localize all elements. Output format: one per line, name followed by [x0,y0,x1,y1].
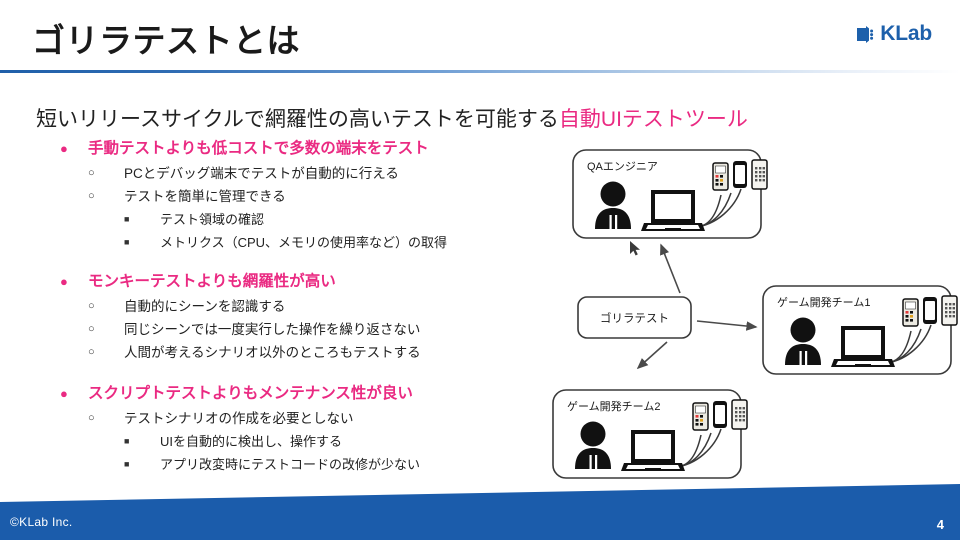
bullet-level1: ● 手動テストよりも低コストで多数の端末をテスト [60,138,447,160]
device-featurephone [713,163,728,190]
bullet-text: 手動テストよりも低コストで多数の端末をテスト [88,138,429,160]
lead-prefix: 短いリリースサイクルで網羅性の高いテストを可能する [36,108,559,131]
klab-mark-icon [856,25,875,44]
svg-text:QAエンジニア: QAエンジニア [587,161,658,173]
arrow-center-to-qa [661,245,680,293]
mouse-cursor-icon [630,241,640,256]
bullet-text: 同じシーンでは一度実行した操作を繰り返さない [124,318,420,341]
klab-logo: KLab [856,22,932,46]
bullet-marker-level2: ○ [88,318,124,341]
architecture-diagram: QAエンジニア [545,145,960,490]
bullet-text: テストを簡単に管理できる [124,185,286,208]
diagram-node-team1: ゲーム開発チーム1 [763,286,957,374]
bullet-marker-level2: ○ [88,162,124,185]
bullet-marker-level3: ■ [124,430,160,453]
bullet-text: テストシナリオの作成を必要としない [124,407,354,430]
bullet-level2: ○ テストシナリオの作成を必要としない [88,407,420,430]
bullet-marker-level2: ○ [88,341,124,364]
diagram-node-team2: ゲーム開発チーム2 [553,390,747,478]
device-smartphone [923,297,937,324]
title-underline-rule [0,70,960,73]
device-smartphone [733,161,747,188]
device-featurephone [903,299,918,326]
bullet-marker-level3: ■ [124,208,160,231]
bullet-text: メトリクス（CPU、メモリの使用率など）の取得 [160,231,447,254]
bullet-text: UIを自動的に検出し、操作する [160,430,342,453]
bullet-marker-level3: ■ [124,231,160,254]
bullet-text: スクリプトテストよりもメンテナンス性が良い [88,383,413,405]
bullet-marker-level2: ○ [88,185,124,208]
bullet-level1: ● スクリプトテストよりもメンテナンス性が良い [60,383,420,405]
arrow-center-to-team2 [638,342,667,368]
bullet-text: PCとデバッグ端末でテストが自動的に行える [124,162,399,185]
svg-text:ゲーム開発チーム1: ゲーム開発チーム1 [777,295,870,309]
bullet-group-0: ● 手動テストよりも低コストで多数の端末をテスト ○ PCとデバッグ端末でテスト… [60,138,447,254]
bullet-level3: ■ メトリクス（CPU、メモリの使用率など）の取得 [124,231,447,254]
bullet-marker-level1: ● [60,383,88,405]
svg-text:ゴリラテスト: ゴリラテスト [600,311,669,325]
bullet-text: アプリ改変時にテストコードの改修が少ない [160,453,420,476]
diagram-node-center: ゴリラテスト [578,297,691,338]
bullet-level3: ■ テスト領域の確認 [124,208,447,231]
bullet-marker-level3: ■ [124,453,160,476]
bullet-level2: ○ 人間が考えるシナリオ以外のところもテストする [88,341,421,364]
page-number: 4 [937,517,944,532]
bullet-marker-level2: ○ [88,295,124,318]
bullet-level3: ■ UIを自動的に検出し、操作する [124,430,420,453]
device-smartphone [713,401,727,428]
svg-text:ゲーム開発チーム2: ゲーム開発チーム2 [567,399,660,413]
bullet-level2: ○ テストを簡単に管理できる [88,185,447,208]
lead-accent: 自動UIテストツール [559,108,748,131]
device-keypad-phone [732,400,747,429]
copyright-text: ©KLab Inc. [10,515,73,529]
arrow-center-to-team1 [697,321,756,327]
bullet-marker-level2: ○ [88,407,124,430]
klab-wordmark: KLab [880,22,932,46]
device-featurephone [693,403,708,430]
slide-footer: ©KLab Inc. 4 [0,480,960,540]
slide-canvas: ゴリラテストとは KLab 短いリリースサイクルで網羅性の高いテストを可能する自… [0,0,960,540]
bullet-text: 自動的にシーンを認識する [124,295,285,318]
bullet-group-1: ● モンキーテストよりも網羅性が高い ○ 自動的にシーンを認識する ○ 同じシー… [60,271,421,364]
lead-sentence: 短いリリースサイクルで網羅性の高いテストを可能する自動UIテストツール [36,103,748,133]
device-keypad-phone [752,160,767,189]
bullet-group-2: ● スクリプトテストよりもメンテナンス性が良い ○ テストシナリオの作成を必要と… [60,383,420,476]
device-keypad-phone [942,296,957,325]
bullet-level2: ○ 同じシーンでは一度実行した操作を繰り返さない [88,318,421,341]
page-title: ゴリラテストとは [32,14,300,62]
bullet-level3: ■ アプリ改変時にテストコードの改修が少ない [124,453,420,476]
bullet-marker-level1: ● [60,138,88,160]
bullet-level2: ○ 自動的にシーンを認識する [88,295,421,318]
bullet-text: テスト領域の確認 [160,208,264,231]
bullet-level1: ● モンキーテストよりも網羅性が高い [60,271,421,293]
bullet-text: 人間が考えるシナリオ以外のところもテストする [124,341,421,364]
bullet-marker-level1: ● [60,271,88,293]
bullet-level2: ○ PCとデバッグ端末でテストが自動的に行える [88,162,447,185]
bullet-text: モンキーテストよりも網羅性が高い [88,271,336,293]
diagram-node-qa: QAエンジニア [573,150,767,238]
